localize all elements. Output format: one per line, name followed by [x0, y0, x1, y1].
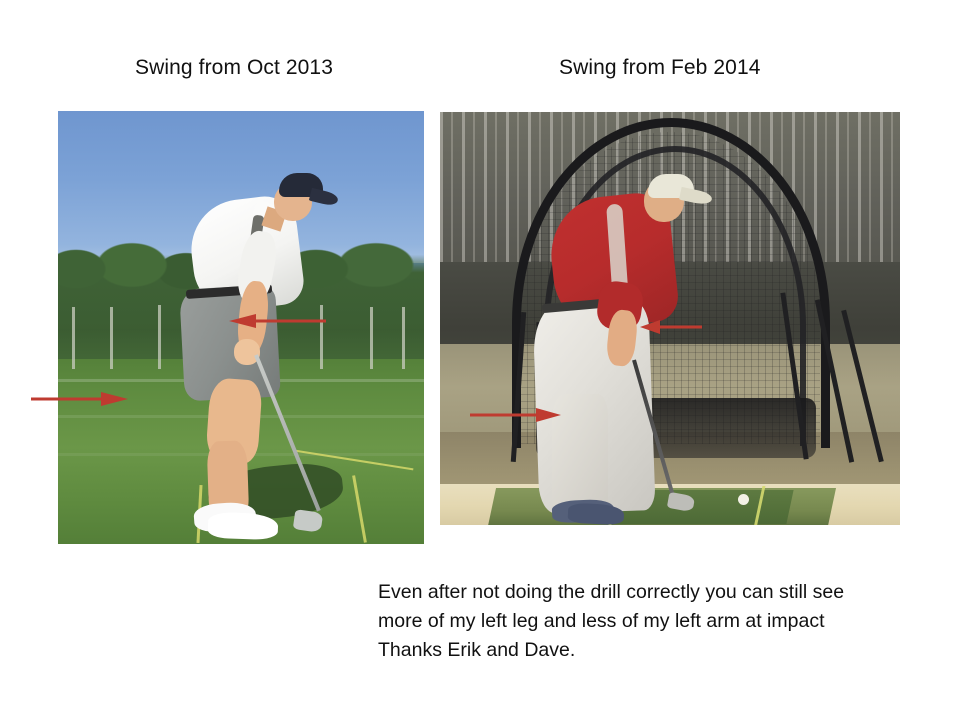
slide-canvas: Swing from Oct 2013 Swing from Feb 2014 — [0, 0, 960, 720]
arrow-right-photo-upper-arm — [638, 318, 702, 336]
golf-club-head — [293, 509, 324, 533]
caption-line-1: Even after not doing the drill correctly… — [378, 578, 923, 607]
fence-pole — [72, 307, 75, 369]
arrow-left-photo-lower-leg — [31, 390, 129, 408]
right-photo-title: Swing from Feb 2014 — [559, 56, 761, 80]
golf-ball — [738, 494, 749, 505]
left-photo-title: Swing from Oct 2013 — [135, 56, 333, 80]
arrow-right-photo-lower-leg — [470, 406, 562, 424]
arrow-left-photo-upper-arm — [226, 312, 326, 330]
fence-pole — [402, 307, 405, 369]
fence-pole — [110, 307, 113, 369]
fence-pole — [370, 307, 373, 369]
caption-line-3: Thanks Erik and Dave. — [378, 636, 923, 665]
fence-pole — [158, 305, 161, 369]
caption-line-2: more of my left leg and less of my left … — [378, 607, 923, 636]
caption-block: Even after not doing the drill correctly… — [378, 578, 923, 665]
